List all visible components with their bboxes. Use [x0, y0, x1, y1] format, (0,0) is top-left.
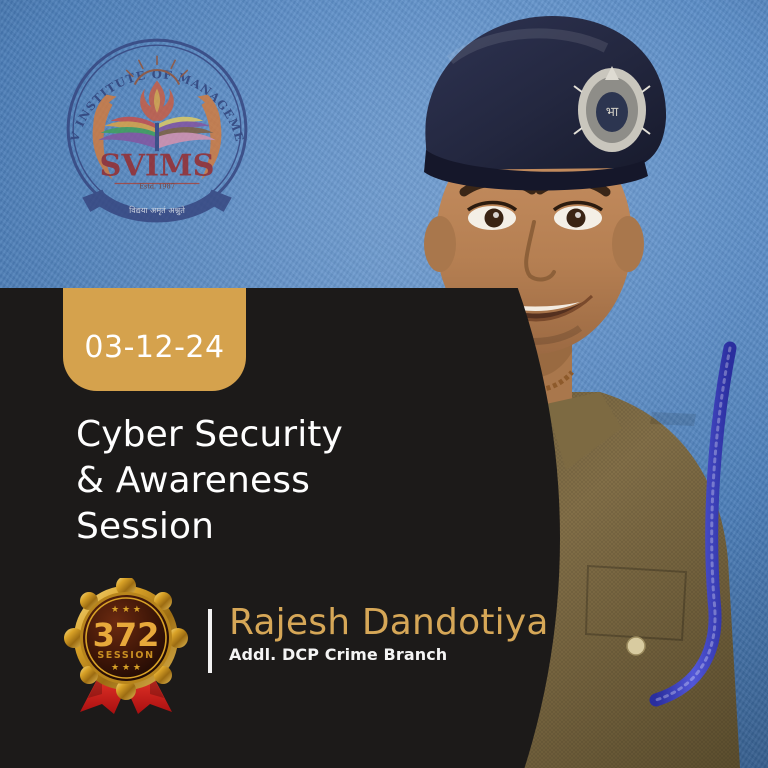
svg-text:विद्यया अमृतं अश्नुते: विद्यया अमृतं अश्नुते [129, 205, 185, 216]
speaker-block: Rajesh Dandotiya Addl. DCP Crime Branch [229, 604, 549, 664]
svg-text:★ ★ ★: ★ ★ ★ [111, 663, 141, 673]
svims-logo: SHRI VAISHNAV INSTITUTE OF MANAGEMENT & … [56, 28, 258, 230]
speaker-role: Addl. DCP Crime Branch [229, 645, 549, 664]
event-title-line-1: Cyber Security [76, 412, 343, 458]
date-badge[interactable]: 03-12-24 [63, 288, 246, 391]
event-title-line-2: & Awareness [76, 458, 343, 504]
poster-canvas: SHRI VAISHNAV INSTITUTE OF MANAGEMENT & … [0, 0, 768, 768]
svg-text:Estd. 1987: Estd. 1987 [139, 183, 175, 191]
event-title: Cyber Security & Awareness Session [76, 412, 343, 550]
seal-label: SESSION [97, 650, 154, 661]
speaker-divider [208, 609, 212, 673]
svg-text:भा: भा [606, 105, 619, 120]
svg-text:SVIMS: SVIMS [100, 148, 215, 183]
seal-number: 372 [93, 616, 160, 654]
date-badge-label: 03-12-24 [84, 330, 224, 365]
speaker-name: Rajesh Dandotiya [229, 604, 549, 642]
session-seal: ★ ★ ★ ★ ★ ★ 372 SESSION [58, 578, 194, 714]
svg-text:★ ★ ★: ★ ★ ★ [111, 605, 141, 615]
event-title-line-3: Session [76, 504, 343, 550]
